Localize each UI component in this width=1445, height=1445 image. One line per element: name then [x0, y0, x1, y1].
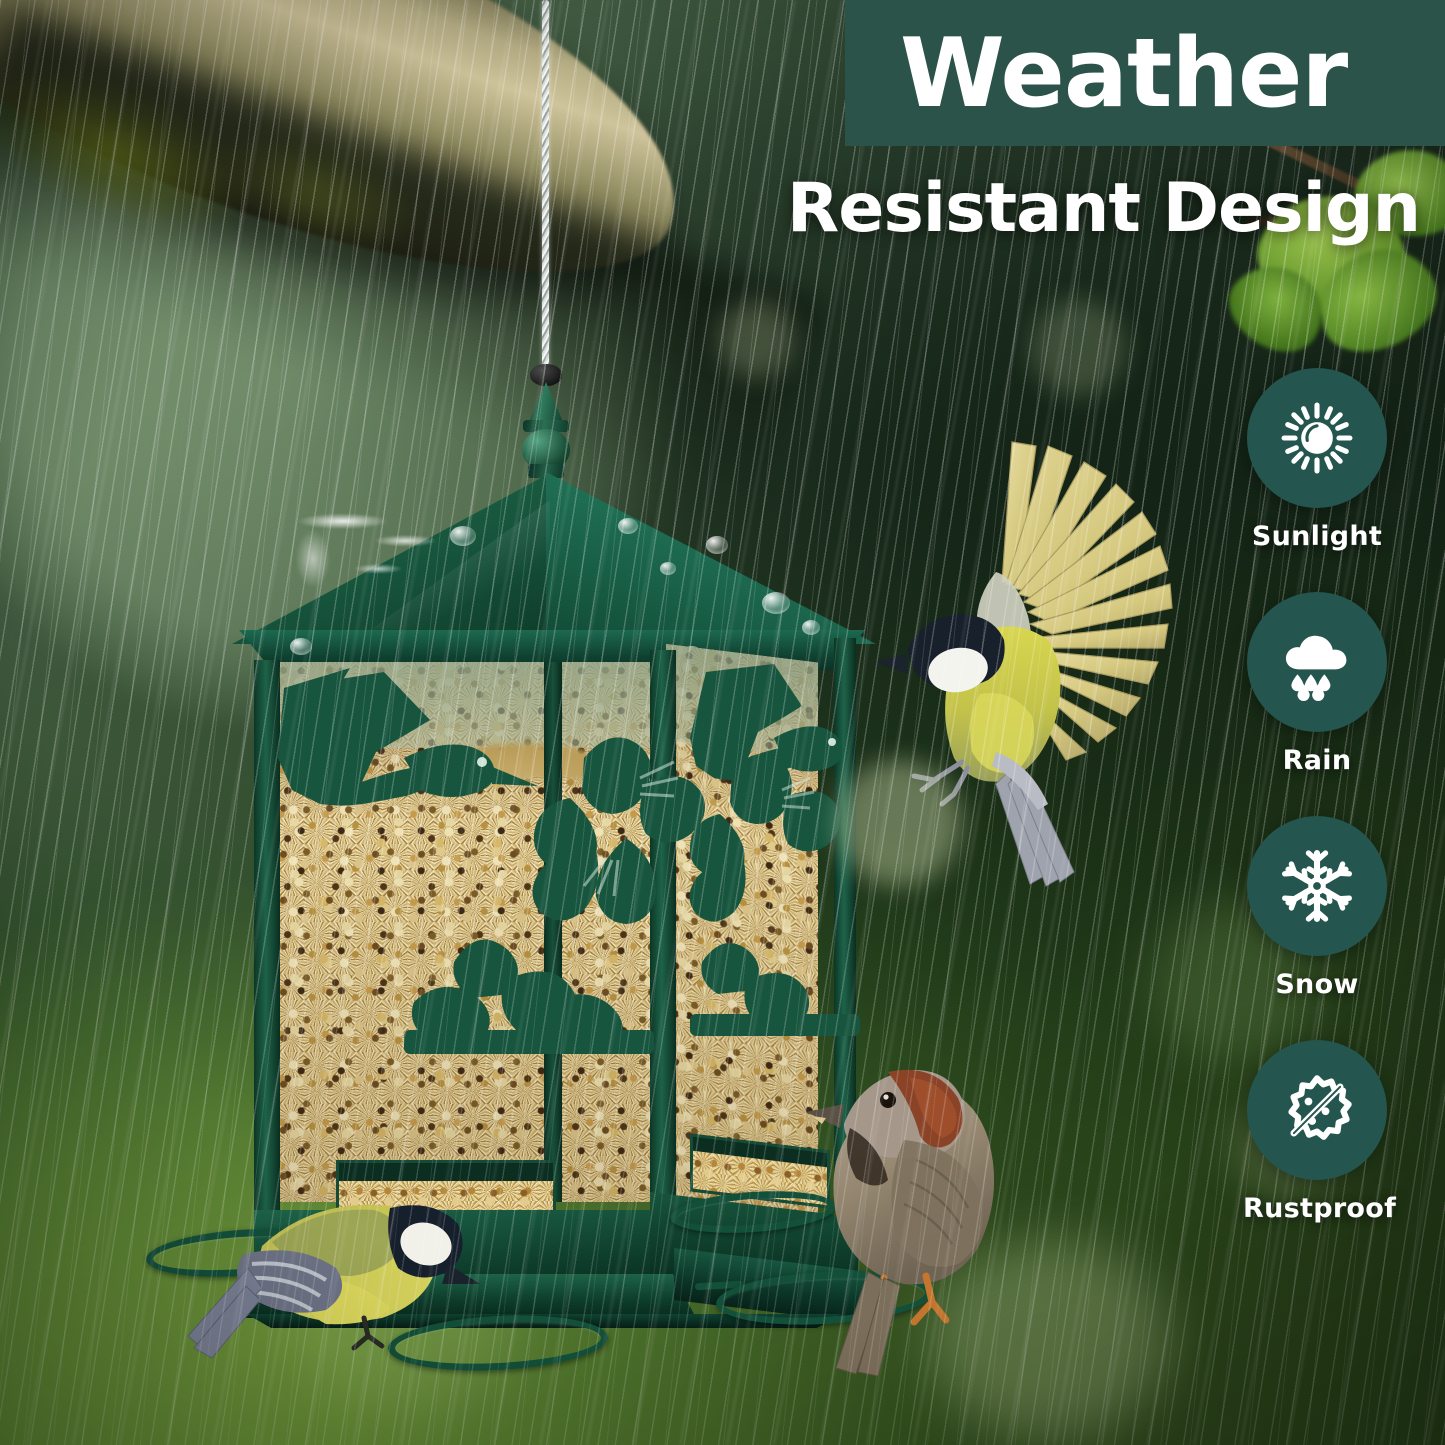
feature-label: Sunlight — [1243, 521, 1391, 552]
bokeh-highlight — [836, 760, 962, 886]
feature-badge — [1247, 592, 1387, 732]
water-droplet — [290, 638, 312, 655]
finial-cone — [529, 382, 563, 422]
product-marketing-image: Weather Resistant Design — [0, 0, 1445, 1445]
feature-label: Snow — [1243, 969, 1391, 1000]
feature-item-rain[interactable]: Rain — [1243, 592, 1391, 776]
feature-badge — [1247, 816, 1387, 956]
seed-mound — [374, 726, 674, 778]
hanging-cable — [542, 0, 549, 370]
bird-house-sparrow-perched — [792, 1032, 1072, 1384]
feature-label: Rain — [1243, 745, 1391, 776]
feature-item-rustproof[interactable]: Rustproof — [1243, 1040, 1391, 1224]
feature-item-sunlight[interactable]: Sunlight — [1243, 368, 1391, 552]
page-title: Weather — [900, 24, 1445, 124]
water-splash — [268, 482, 518, 622]
water-droplet — [618, 518, 638, 534]
feature-badge — [1247, 1040, 1387, 1180]
frame-post-left — [254, 660, 280, 1220]
water-droplet — [660, 562, 676, 575]
bird-great-tit-feeding — [186, 1168, 526, 1404]
bokeh-highlight — [1030, 300, 1126, 396]
feature-list: Sunlight Rain — [1243, 368, 1391, 1264]
clear-panel-upper-right — [666, 644, 818, 759]
page-subtitle: Resistant Design — [760, 168, 1420, 250]
feature-badge — [1247, 368, 1387, 508]
water-droplet — [450, 526, 476, 546]
water-droplet — [802, 620, 820, 635]
feature-label: Rustproof — [1243, 1193, 1391, 1224]
roof-right-face — [546, 472, 876, 644]
bokeh-highlight — [718, 300, 796, 378]
water-droplet — [762, 592, 790, 614]
frame-post-inner — [544, 662, 562, 1202]
rain-cloud-icon — [1278, 623, 1356, 701]
snowflake-icon — [1278, 847, 1356, 925]
water-droplet — [706, 536, 728, 554]
feature-item-snow[interactable]: Snow — [1243, 816, 1391, 1000]
frame-post-center — [650, 650, 676, 1218]
sun-icon — [1278, 399, 1356, 477]
rustproof-badge-icon — [1278, 1071, 1356, 1149]
